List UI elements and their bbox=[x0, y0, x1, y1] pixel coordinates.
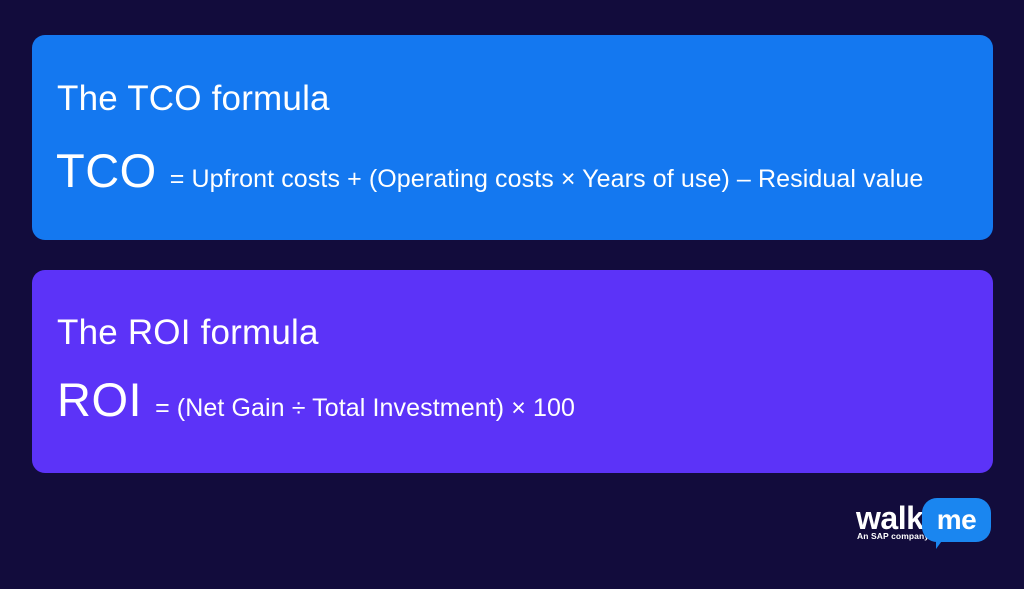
tco-formula-card: The TCO formula TCO = Upfront costs + (O… bbox=[32, 35, 993, 240]
walkme-logo: walk An SAP company me bbox=[853, 498, 1001, 552]
tco-acronym: TCO bbox=[56, 147, 157, 194]
speech-bubble-tail-icon bbox=[936, 538, 952, 549]
roi-card-heading: The ROI formula bbox=[57, 315, 319, 350]
roi-formula-card: The ROI formula ROI = (Net Gain ÷ Total … bbox=[32, 270, 993, 473]
tco-expression: = Upfront costs + (Operating costs × Yea… bbox=[170, 167, 924, 192]
speech-bubble-icon: me bbox=[922, 498, 991, 542]
walkme-tagline: An SAP company bbox=[857, 532, 929, 541]
tco-card-heading: The TCO formula bbox=[57, 81, 330, 116]
roi-acronym: ROI bbox=[57, 376, 142, 423]
walkme-wordmark: walk bbox=[856, 502, 923, 534]
roi-formula-row: ROI = (Net Gain ÷ Total Investment) × 10… bbox=[57, 376, 575, 423]
tco-formula-row: TCO = Upfront costs + (Operating costs ×… bbox=[56, 147, 923, 194]
walkme-bubble-text: me bbox=[922, 498, 991, 542]
roi-expression: = (Net Gain ÷ Total Investment) × 100 bbox=[155, 396, 575, 421]
infographic-canvas: The TCO formula TCO = Upfront costs + (O… bbox=[0, 0, 1024, 589]
